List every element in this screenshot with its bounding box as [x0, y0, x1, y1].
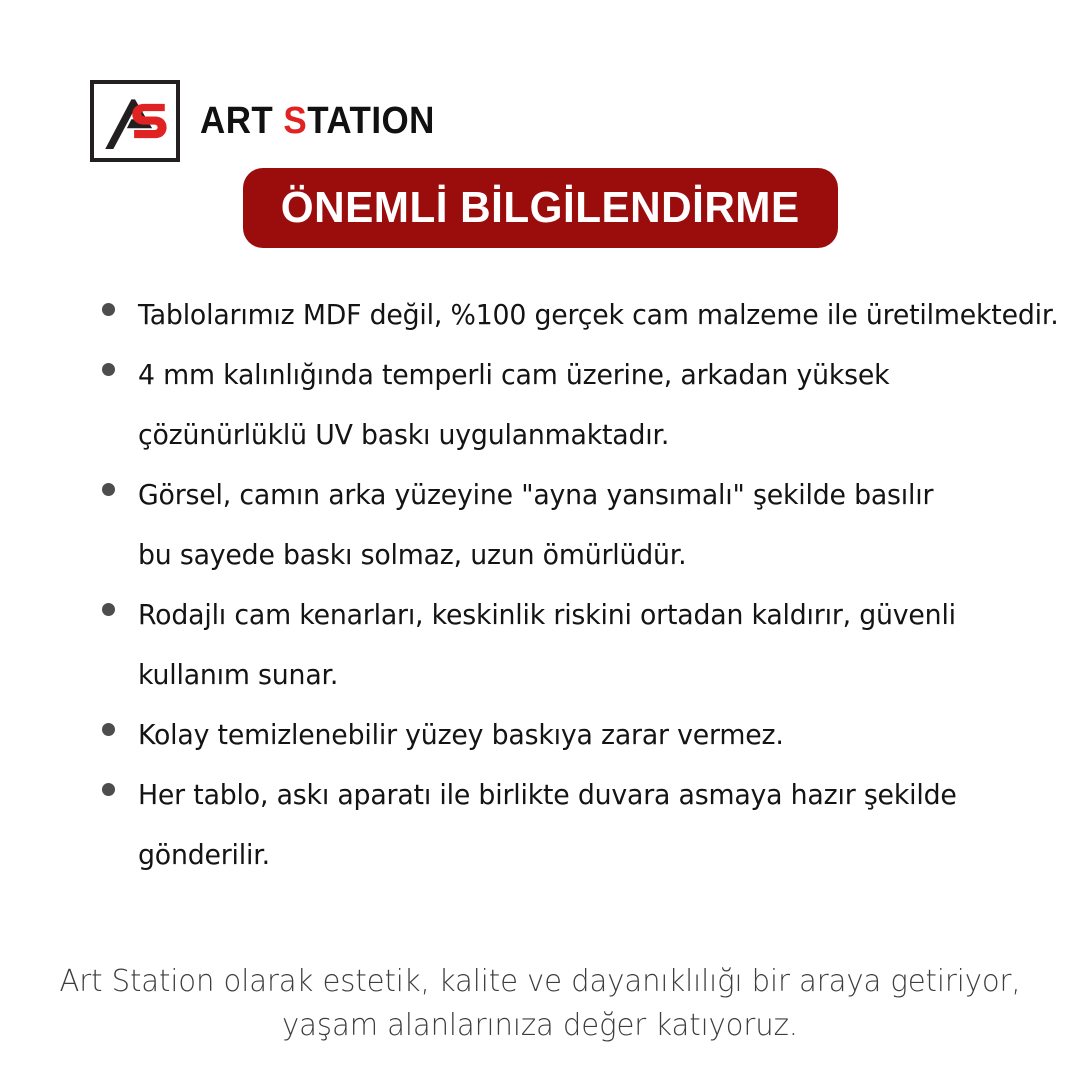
list-item-line: bu sayede baskı solmaz, uzun ömürlüdür. [138, 525, 998, 585]
art-station-as-monogram-icon [90, 80, 180, 162]
list-item: Rodajlı cam kenarları, keskinlik riskini… [98, 585, 1038, 705]
list-item-line: Görsel, camın arka yüzeyine "ayna yansım… [138, 465, 998, 525]
bullet-dot-icon [102, 603, 115, 616]
promo-info-card: ART STATION ÖNEMLİ BİLGİLENDİRME Tablola… [0, 0, 1080, 1080]
list-item-line: Kolay temizlenebilir yüzey baskıya zarar… [138, 705, 998, 765]
list-item-line: çözünürlüklü UV baskı uygulanmaktadır. [138, 405, 998, 465]
list-item: Görsel, camın arka yüzeyine "ayna yansım… [98, 465, 1038, 585]
wordmark-part-2: TATION [307, 100, 435, 142]
list-item-line: kullanım sunar. [138, 645, 998, 705]
wordmark-accent-letter: S [283, 100, 307, 142]
list-item: 4 mm kalınlığında temperli cam üzerine, … [98, 345, 1038, 465]
bullet-dot-icon [102, 303, 115, 316]
bullet-dot-icon [102, 723, 115, 736]
bullet-dot-icon [102, 363, 115, 376]
bullet-dot-icon [102, 783, 115, 796]
wordmark-part-1: ART [200, 100, 283, 142]
list-item: Kolay temizlenebilir yüzey baskıya zarar… [98, 705, 1038, 765]
bullet-dot-icon [102, 483, 115, 496]
footer-tagline: Art Station olarak estetik, kalite ve da… [0, 960, 1080, 1048]
list-item-line: gönderilir. [138, 825, 998, 885]
banner-title: ÖNEMLİ BİLGİLENDİRME [281, 186, 800, 230]
brand-header: ART STATION [90, 80, 455, 162]
list-item: Tablolarımız MDF değil, %100 gerçek cam … [98, 285, 1038, 345]
list-item-line: 4 mm kalınlığında temperli cam üzerine, … [138, 345, 998, 405]
list-item-line: Rodajlı cam kenarları, keskinlik riskini… [138, 585, 998, 645]
info-bullet-list: Tablolarımız MDF değil, %100 gerçek cam … [98, 285, 1038, 885]
brand-wordmark: ART STATION [200, 102, 435, 140]
list-item-line: Her tablo, askı aparatı ile birlikte duv… [138, 765, 998, 825]
list-item: Her tablo, askı aparatı ile birlikte duv… [98, 765, 1038, 885]
important-notice-banner: ÖNEMLİ BİLGİLENDİRME [243, 168, 838, 248]
list-item-line: Tablolarımız MDF değil, %100 gerçek cam … [138, 285, 998, 345]
footer-line-2: yaşam alanlarınıza değer katıyoruz. [16, 1004, 1064, 1048]
footer-line-1: Art Station olarak estetik, kalite ve da… [16, 960, 1064, 1004]
